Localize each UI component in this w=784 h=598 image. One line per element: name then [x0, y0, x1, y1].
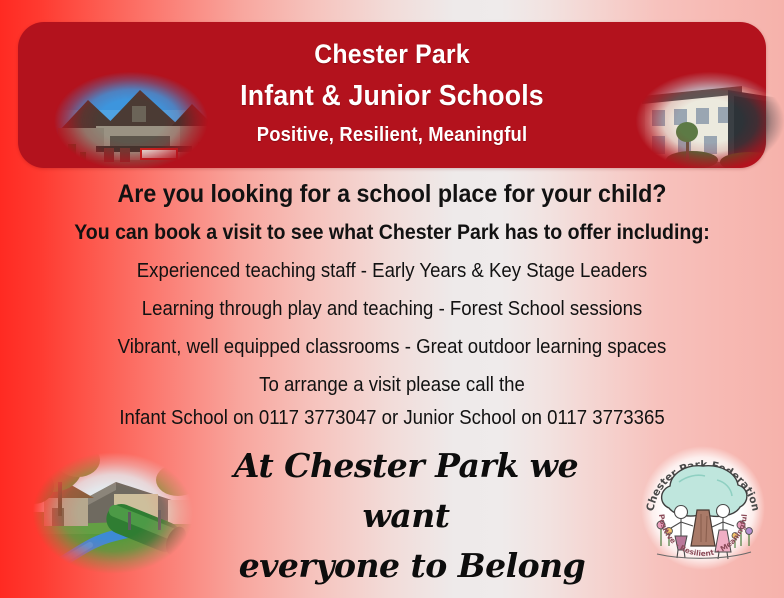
offer-point-3: Vibrant, well equipped classrooms - Grea…: [27, 334, 756, 360]
junior-school-photo: [622, 60, 784, 182]
playground-photo-art: [18, 438, 208, 588]
junior-school-photo-art: [622, 60, 784, 182]
slogan-line-2: everyone to Belong: [208, 541, 616, 591]
main-subhead: You can book a visit to see what Chester…: [27, 219, 756, 247]
main-headline: Are you looking for a school place for y…: [27, 178, 756, 210]
poster-flyer: Chester Park Infant & Junior Schools Pos…: [0, 0, 784, 598]
header-banner: Chester Park Infant & Junior Schools Pos…: [18, 22, 766, 168]
offer-point-2: Learning through play and teaching - For…: [27, 296, 756, 322]
offer-point-1: Experienced teaching staff - Early Years…: [27, 258, 756, 284]
call-intro-text: To arrange a visit please call the: [27, 372, 756, 398]
slogan-line-1: At Chester Park we want: [196, 441, 616, 541]
chester-park-federation-logo: Chester Park Federation: [637, 442, 769, 574]
playground-photo: [18, 438, 208, 588]
slogan-text: At Chester Park we want everyone to Belo…: [196, 441, 616, 591]
federation-logo-art: Chester Park Federation: [637, 442, 769, 574]
phone-numbers-text: Infant School on 0117 3773047 or Junior …: [27, 405, 756, 431]
